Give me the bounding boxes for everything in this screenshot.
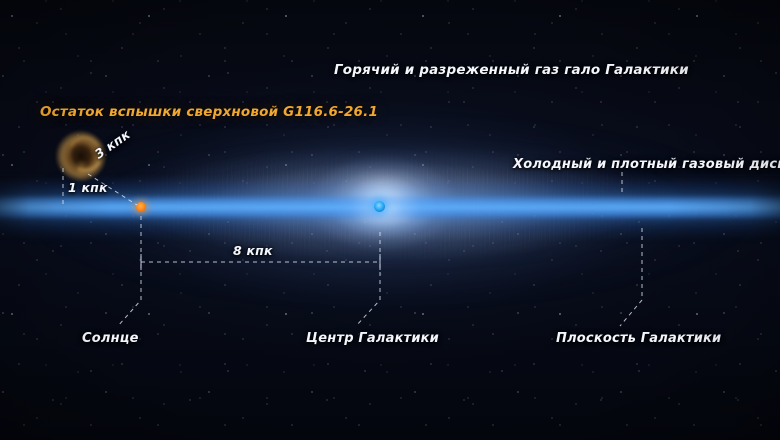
label-halo: Горячий и разреженный газ гало Галактики <box>334 62 689 78</box>
label-supernova-remnant: Остаток вспышки сверхновой G116.6-26.1 <box>40 104 378 120</box>
label-galactic-plane: Плоскость Галактики <box>556 331 721 346</box>
label-sun: Солнце <box>82 331 139 346</box>
galactic-center-marker-dot[interactable] <box>374 201 385 212</box>
galaxy-diagram: Горячий и разреженный газ гало Галактики… <box>0 0 780 440</box>
label-distance-8kpc: 8 кпк <box>233 243 273 258</box>
label-supernova-remnant-code: G116.6-26.1 <box>283 104 378 120</box>
gas-disk-edge-fade <box>0 176 780 240</box>
supernova-remnant-tail <box>78 163 85 181</box>
sun-marker-dot[interactable] <box>136 202 146 212</box>
label-distance-1kpc: 1 кпк <box>68 180 108 195</box>
label-galactic-center: Центр Галактики <box>306 331 439 346</box>
label-gas-disk: Холодный и плотный газовый диск <box>513 157 780 172</box>
label-supernova-remnant-prefix: Остаток вспышки сверхновой <box>40 104 283 120</box>
